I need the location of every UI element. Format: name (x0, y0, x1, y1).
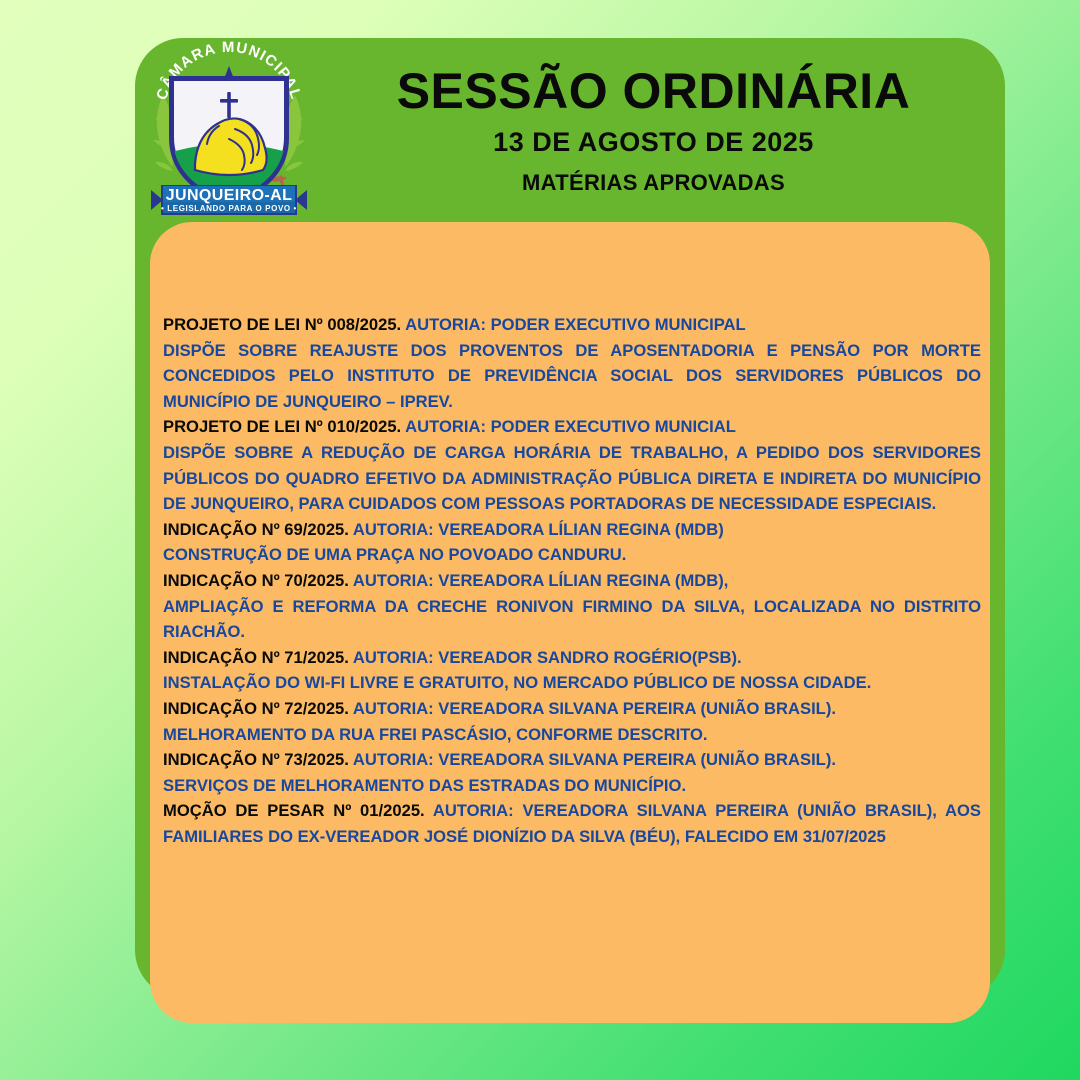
matter-entry: PROJETO DE LEI Nº 008/2025. AUTORIA: POD… (163, 312, 981, 414)
matter-entry: INDICAÇÃO Nº 70/2025. AUTORIA: VEREADORA… (163, 568, 981, 645)
matter-entry: PROJETO DE LEI Nº 010/2025. AUTORIA: POD… (163, 414, 981, 516)
matter-authorship: AUTORIA: PODER EXECUTIVO MUNICIPAL (401, 315, 746, 334)
matter-reference: INDICAÇÃO Nº 71/2025. (163, 648, 349, 667)
matter-entry: INDICAÇÃO Nº 71/2025. AUTORIA: VEREADOR … (163, 645, 981, 696)
header: CÂMARA MUNICIPAL (135, 38, 1005, 222)
matter-description: DISPÕE SOBRE REAJUSTE DOS PROVENTOS DE A… (163, 341, 981, 411)
matter-description: CONSTRUÇÃO DE UMA PRAÇA NO POVOADO CANDU… (163, 545, 626, 564)
matter-description: AMPLIAÇÃO E REFORMA DA CRECHE RONIVON FI… (163, 597, 981, 642)
matter-description: SERVIÇOS DE MELHORAMENTO DAS ESTRADAS DO… (163, 776, 686, 795)
matter-reference: PROJETO DE LEI Nº 010/2025. (163, 417, 401, 436)
matter-entry: MOÇÃO DE PESAR Nº 01/2025. AUTORIA: VERE… (163, 798, 981, 849)
matter-reference: INDICAÇÃO Nº 70/2025. (163, 571, 349, 590)
matter-reference: INDICAÇÃO Nº 73/2025. (163, 750, 349, 769)
session-date: 13 DE AGOSTO DE 2025 (320, 129, 987, 156)
matter-authorship: AUTORIA: VEREADORA SILVANA PEREIRA (UNIÃ… (349, 699, 836, 718)
approved-matters-list: PROJETO DE LEI Nº 008/2025. AUTORIA: POD… (163, 312, 981, 849)
matter-reference: PROJETO DE LEI Nº 008/2025. (163, 315, 401, 334)
matter-authorship: AUTORIA: VEREADOR SANDRO ROGÉRIO(PSB). (349, 648, 742, 667)
header-text-block: SESSÃO ORDINÁRIA 13 DE AGOSTO DE 2025 MA… (320, 66, 1005, 194)
municipal-coat-of-arms-logo: CÂMARA MUNICIPAL (135, 38, 320, 222)
matter-description: DISPÕE SOBRE A REDUÇÃO DE CARGA HORÁRIA … (163, 443, 981, 513)
matter-authorship: AUTORIA: VEREADORA LÍLIAN REGINA (MDB), (349, 571, 729, 590)
ribbon-city-label: JUNQUEIRO-AL (166, 187, 293, 204)
coat-of-arms-icon: CÂMARA MUNICIPAL (143, 40, 315, 220)
matter-entry: INDICAÇÃO Nº 72/2025. AUTORIA: VEREADORA… (163, 696, 981, 747)
matter-reference: MOÇÃO DE PESAR Nº 01/2025. (163, 801, 425, 820)
matter-entry: INDICAÇÃO Nº 69/2025. AUTORIA: VEREADORA… (163, 517, 981, 568)
matter-entry: INDICAÇÃO Nº 73/2025. AUTORIA: VEREADORA… (163, 747, 981, 798)
matter-authorship: AUTORIA: VEREADORA LÍLIAN REGINA (MDB) (349, 520, 724, 539)
page-title: SESSÃO ORDINÁRIA (320, 66, 987, 116)
matter-reference: INDICAÇÃO Nº 69/2025. (163, 520, 349, 539)
matter-description: INSTALAÇÃO DO WI-FI LIVRE E GRATUITO, NO… (163, 673, 871, 692)
matter-description: MELHORAMENTO DA RUA FREI PASCÁSIO, CONFO… (163, 725, 708, 744)
ribbon-motto-label: • LEGISLANDO PARA O POVO • (161, 204, 297, 213)
page-subtitle: MATÉRIAS APROVADAS (320, 172, 987, 194)
matter-authorship: AUTORIA: VEREADORA SILVANA PEREIRA (UNIÃ… (349, 750, 836, 769)
matter-reference: INDICAÇÃO Nº 72/2025. (163, 699, 349, 718)
matter-authorship: AUTORIA: PODER EXECUTIVO MUNICIAL (401, 417, 736, 436)
